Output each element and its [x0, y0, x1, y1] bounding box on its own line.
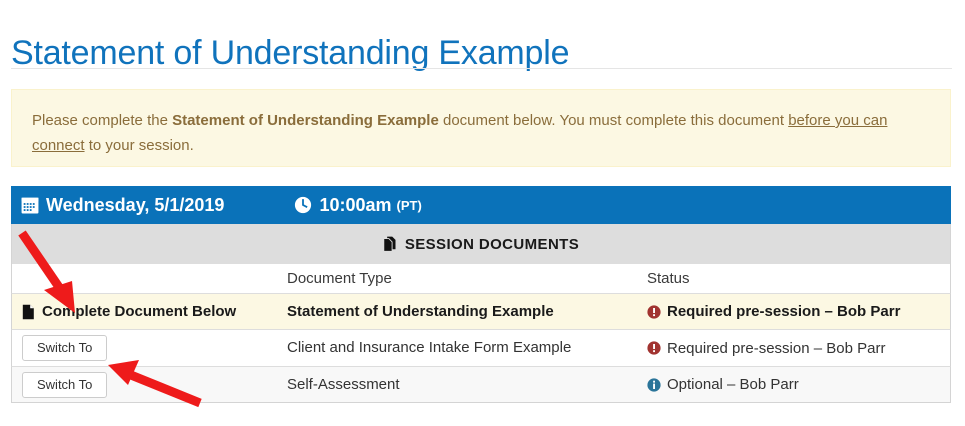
- documents-icon: [383, 236, 398, 252]
- file-icon: [22, 304, 35, 320]
- row-status-cell: Optional – Bob Parr: [647, 376, 950, 393]
- table-row[interactable]: Complete Document Below Statement of Und…: [11, 294, 951, 330]
- session-header-bar: Wednesday, 5/1/2019 10:00am (PT): [11, 186, 951, 224]
- alert-text-part3: to your session.: [85, 137, 194, 154]
- row-document-type-cell: Self-Assessment: [287, 376, 647, 394]
- status-badge: Optional – Bob Parr: [647, 376, 950, 393]
- row-status-cell: Required pre-session – Bob Parr: [647, 303, 950, 320]
- column-header-status-label: Status: [647, 270, 690, 287]
- switch-to-button[interactable]: Switch To: [22, 372, 107, 398]
- exclamation-circle-icon: [647, 341, 661, 355]
- row-status-label: Required pre-session – Bob Parr: [667, 303, 900, 320]
- complete-document-indicator: Complete Document Below: [22, 303, 287, 320]
- row-action-cell: Complete Document Below: [12, 303, 287, 320]
- status-badge: Required pre-session – Bob Parr: [647, 303, 950, 320]
- alert-text-part1: Please complete the: [32, 112, 172, 129]
- alert-text-part2: document below. You must complete this d…: [439, 112, 788, 129]
- session-documents-panel: Wednesday, 5/1/2019 10:00am (PT): [11, 186, 951, 403]
- column-header-status: Status: [647, 270, 950, 288]
- session-timezone: (PT): [397, 198, 422, 213]
- session-time-group: 10:00am (PT): [294, 195, 421, 216]
- table-header-row: Document Type Status: [11, 264, 951, 294]
- alert-banner: Please complete the Statement of Underst…: [11, 89, 951, 167]
- row-status-label: Optional – Bob Parr: [667, 376, 799, 393]
- row-document-type-cell: Statement of Understanding Example: [287, 303, 647, 321]
- row-action-label: Complete Document Below: [42, 303, 236, 320]
- info-circle-icon: [647, 378, 661, 392]
- row-document-type: Statement of Understanding Example: [287, 303, 554, 320]
- session-date-group: Wednesday, 5/1/2019: [21, 195, 224, 216]
- table-row[interactable]: Switch To Client and Insurance Intake Fo…: [11, 330, 951, 367]
- exclamation-circle-icon: [647, 305, 661, 319]
- row-status-label: Required pre-session – Bob Parr: [667, 340, 885, 357]
- session-documents-title: SESSION DOCUMENTS: [405, 236, 579, 253]
- column-header-document-type: Document Type: [287, 270, 647, 288]
- row-action-cell: Switch To: [12, 372, 287, 398]
- row-document-type: Self-Assessment: [287, 376, 400, 393]
- session-date: Wednesday, 5/1/2019: [46, 195, 224, 216]
- alert-message: Please complete the Statement of Underst…: [32, 108, 932, 158]
- column-header-document-type-label: Document Type: [287, 270, 392, 287]
- row-document-type-cell: Client and Insurance Intake Form Example: [287, 339, 647, 357]
- session-documents-header: SESSION DOCUMENTS: [11, 224, 951, 264]
- switch-to-button[interactable]: Switch To: [22, 335, 107, 361]
- calendar-icon: [21, 196, 39, 214]
- clock-icon: [294, 196, 312, 214]
- row-status-cell: Required pre-session – Bob Parr: [647, 340, 950, 357]
- page-root: Statement of Understanding Example Pleas…: [0, 0, 965, 426]
- row-action-cell: Switch To: [12, 335, 287, 361]
- status-badge: Required pre-session – Bob Parr: [647, 340, 950, 357]
- alert-document-name: Statement of Understanding Example: [172, 112, 439, 129]
- session-time: 10:00am: [319, 195, 391, 216]
- table-row[interactable]: Switch To Self-Assessment Optional – Bob…: [11, 367, 951, 403]
- title-divider: [11, 68, 952, 69]
- row-document-type: Client and Insurance Intake Form Example: [287, 339, 571, 356]
